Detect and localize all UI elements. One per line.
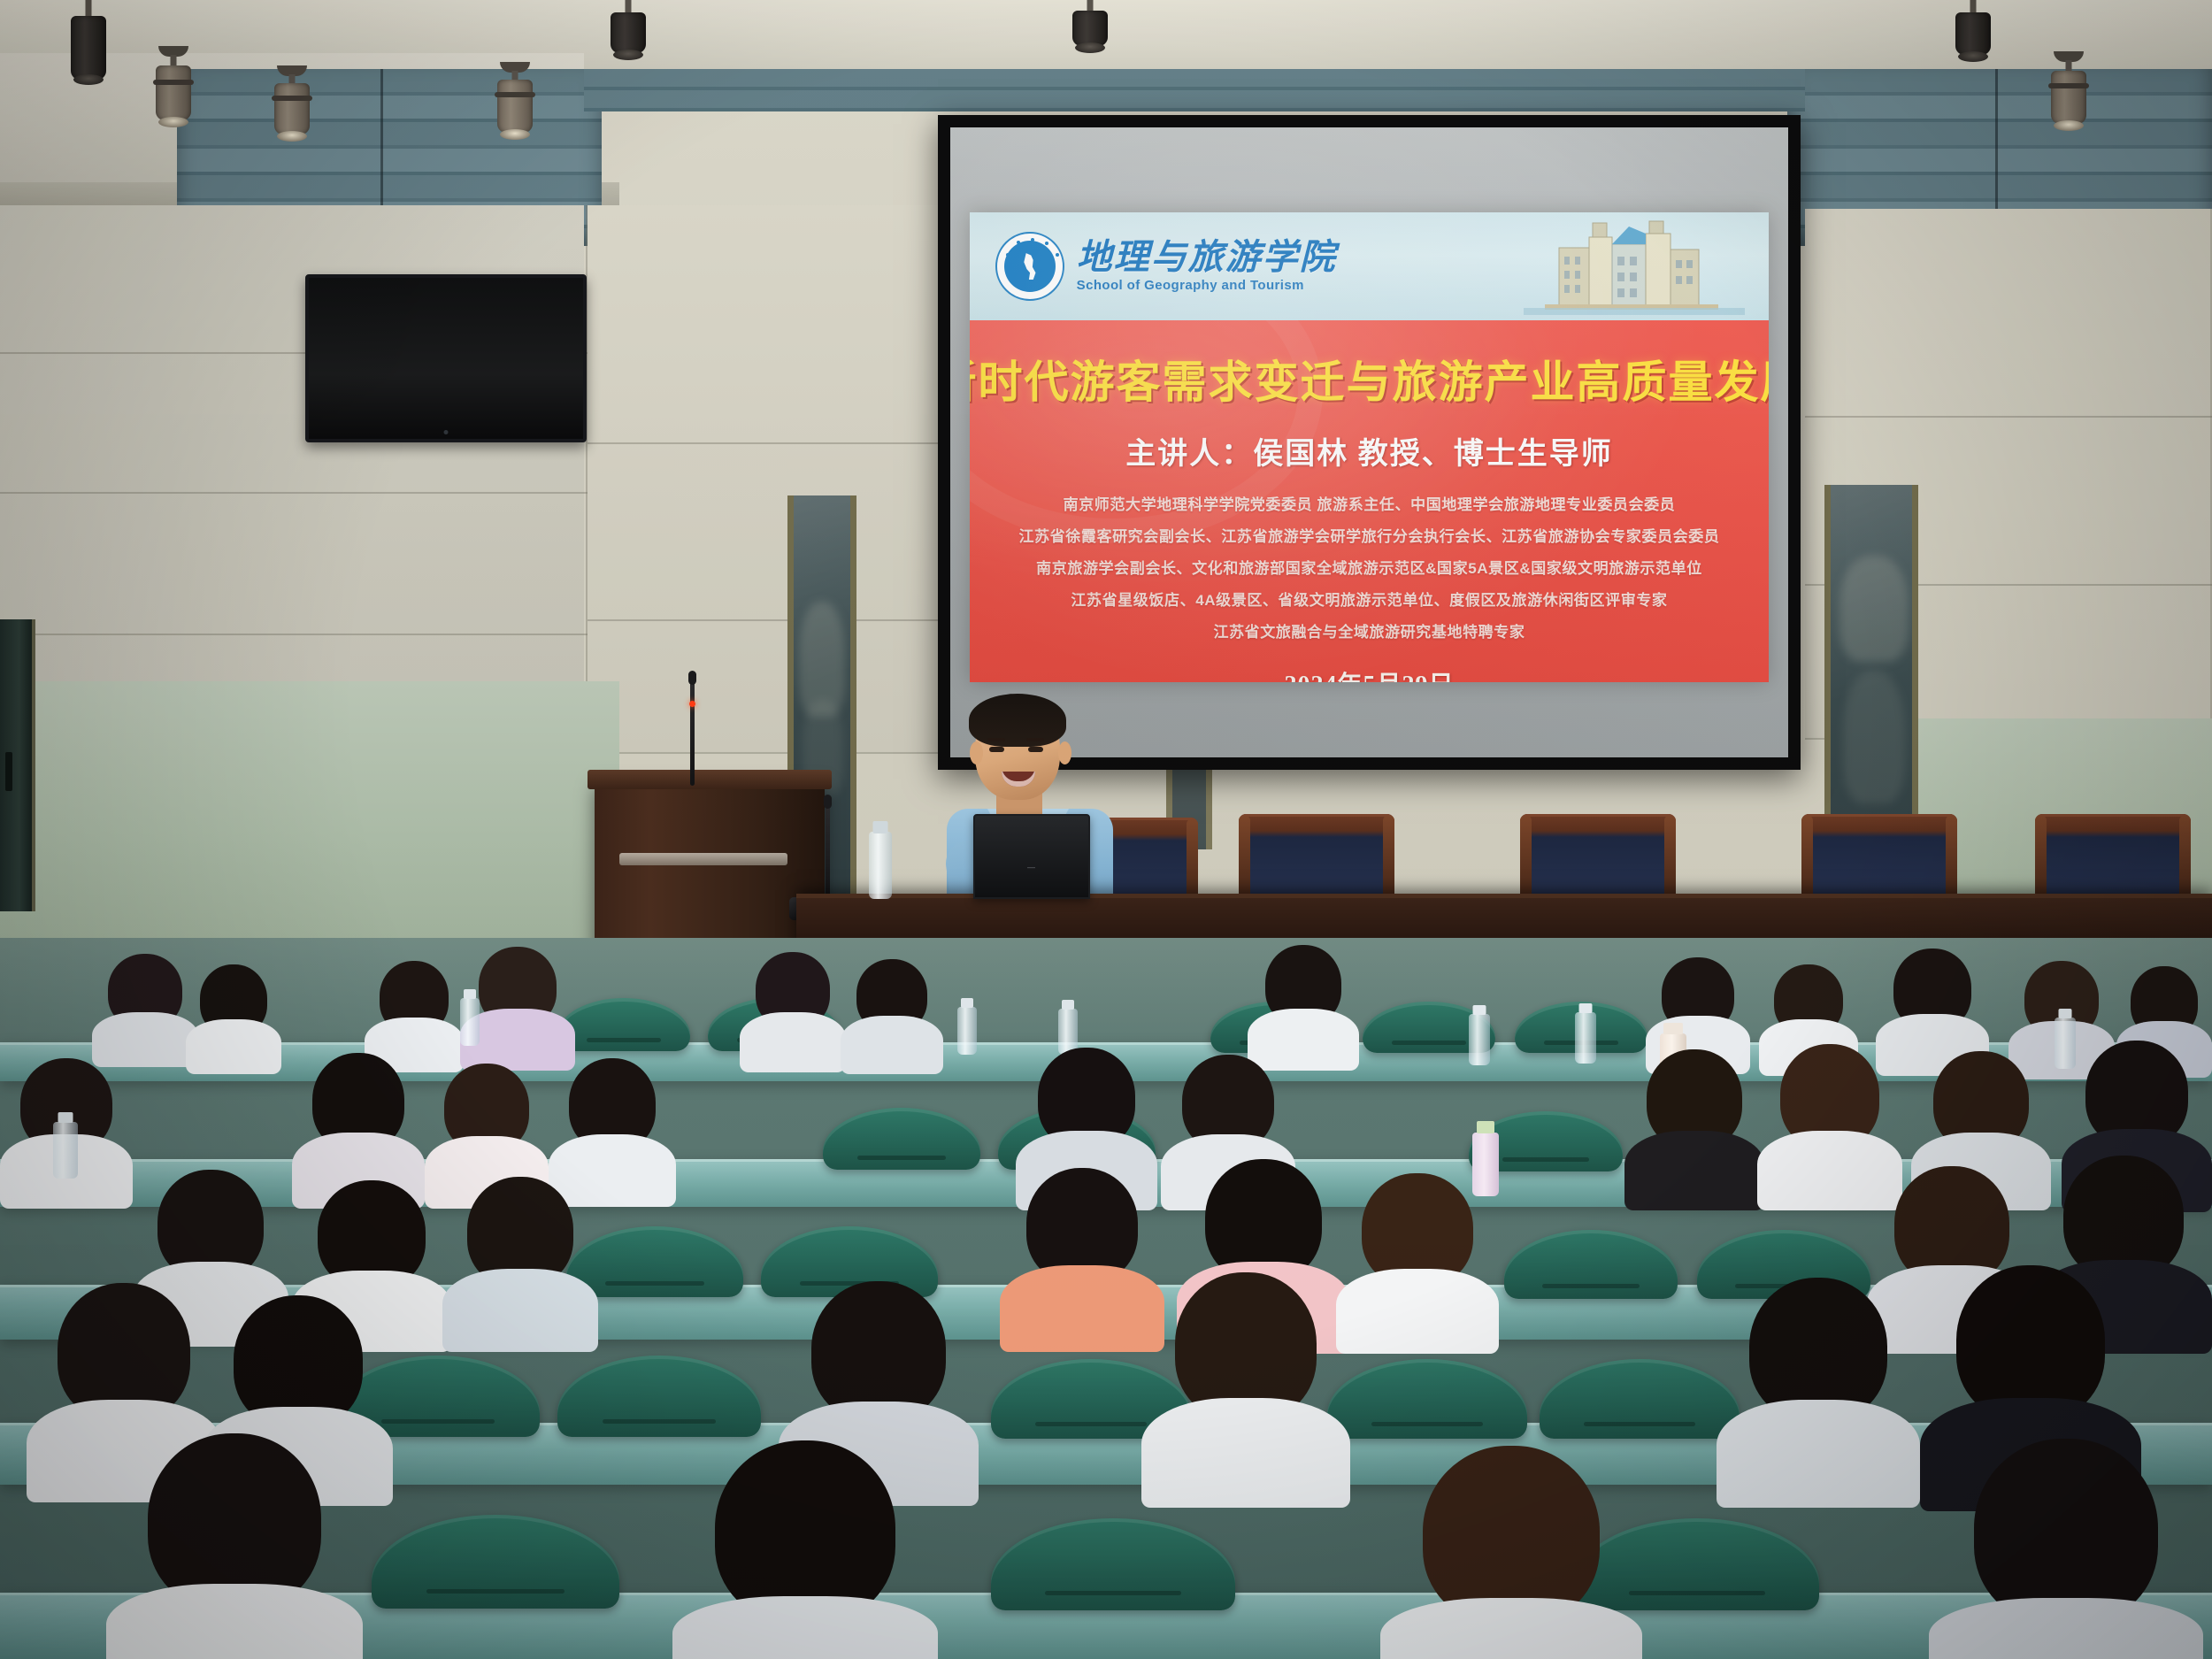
projection-screen: 地理与旅游学院 School of Geography and Tourism — [938, 115, 1801, 770]
audience-member — [1929, 1439, 2203, 1659]
water-bottle-icon — [957, 1007, 977, 1055]
water-bottle-icon — [460, 998, 480, 1046]
water-bottle-icon — [1469, 1014, 1490, 1065]
slide-body: 新时代游客需求变迁与旅游产业高质量发展 主讲人：侯国林 教授、博士生导师 南京师… — [970, 320, 1769, 681]
seal-emblem — [1004, 241, 1056, 292]
slide-date: 2024年5月29日 — [1284, 665, 1454, 682]
credential-line: 江苏省星级饭店、4A级景区、省级文明旅游示范单位、度假区及旅游休闲街区评审专家 — [1071, 588, 1667, 610]
credential-line: 南京旅游学会副会长、文化和旅游部国家全域旅游示范区&国家5A景区&国家级文明旅游… — [1036, 556, 1702, 578]
monitor-power-led-icon — [444, 430, 449, 434]
campus-building-icon — [1524, 212, 1745, 320]
wall-seam — [1805, 416, 2212, 418]
wall-seam — [588, 442, 945, 444]
audience-member — [672, 1440, 938, 1659]
audience-member — [1000, 1168, 1164, 1348]
wainscot-left — [0, 681, 619, 947]
audience-member — [442, 1177, 598, 1348]
podium-microphone — [690, 681, 695, 786]
university-seal-icon — [995, 232, 1064, 301]
audience-member — [106, 1433, 363, 1659]
water-bottle-icon — [1575, 1012, 1596, 1064]
presenter-hair — [969, 694, 1066, 747]
audience-member — [1336, 1173, 1499, 1350]
audience-member — [292, 1053, 425, 1202]
audience-member — [1380, 1446, 1642, 1659]
presentation-slide: 地理与旅游学院 School of Geography and Tourism — [970, 212, 1769, 681]
slide-header-band: 地理与旅游学院 School of Geography and Tourism — [970, 212, 1769, 320]
lecture-hall-photo: 地理与旅游学院 School of Geography and Tourism — [0, 0, 2212, 1659]
wall-seam — [588, 619, 945, 621]
wall-mounted-monitor — [305, 274, 587, 442]
audience-member — [186, 964, 281, 1069]
side-door[interactable] — [0, 619, 35, 911]
screen-surface: 地理与旅游学院 School of Geography and Tourism — [950, 127, 1788, 757]
wall-seam — [0, 634, 588, 635]
audience-member — [1717, 1278, 1920, 1504]
presenter-laptop: — — [973, 814, 1090, 899]
microphone-led-icon — [689, 701, 695, 707]
slatted-soffit-center — [584, 69, 1805, 111]
slide-title: 新时代游客需求变迁与旅游产业高质量发展 — [970, 347, 1769, 411]
audience-member — [740, 952, 846, 1069]
slide-credentials-list: 南京师范大学地理科学学院党委委员 旅游系主任、中国地理学会旅游地理专业委员会委员… — [994, 492, 1745, 641]
podium-shelf — [619, 853, 787, 865]
wall-seam — [0, 492, 588, 494]
school-logo: 地理与旅游学院 School of Geography and Tourism — [995, 232, 1337, 301]
table-microphone — [826, 805, 830, 902]
school-name-english: School of Geography and Tourism — [1077, 278, 1337, 293]
door-handle-icon[interactable] — [5, 752, 12, 791]
slide-speaker-line: 主讲人：侯国林 教授、博士生导师 — [1125, 429, 1613, 472]
credential-line: 南京师范大学地理科学学院党委委员 旅游系主任、中国地理学会旅游地理专业委员会委员 — [1064, 492, 1676, 514]
audience-member — [1248, 945, 1359, 1069]
credential-line: 江苏省文旅融合与全域旅游研究基地特聘专家 — [1213, 619, 1525, 641]
water-bottle-icon — [53, 1122, 78, 1179]
audience-member — [841, 959, 943, 1072]
audience-member — [1141, 1272, 1350, 1504]
credential-line: 江苏省徐霞客研究会副会长、江苏省旅游学会研学旅行分会执行会长、江苏省旅游协会专家… — [1018, 524, 1719, 546]
wall-panel-center — [588, 205, 941, 754]
water-bottle-icon — [869, 832, 892, 899]
audience-member — [92, 954, 198, 1060]
school-name-chinese: 地理与旅游学院 — [1077, 240, 1337, 275]
logo-wordmark: 地理与旅游学院 School of Geography and Tourism — [1077, 240, 1337, 293]
audience-member — [1624, 1049, 1764, 1207]
